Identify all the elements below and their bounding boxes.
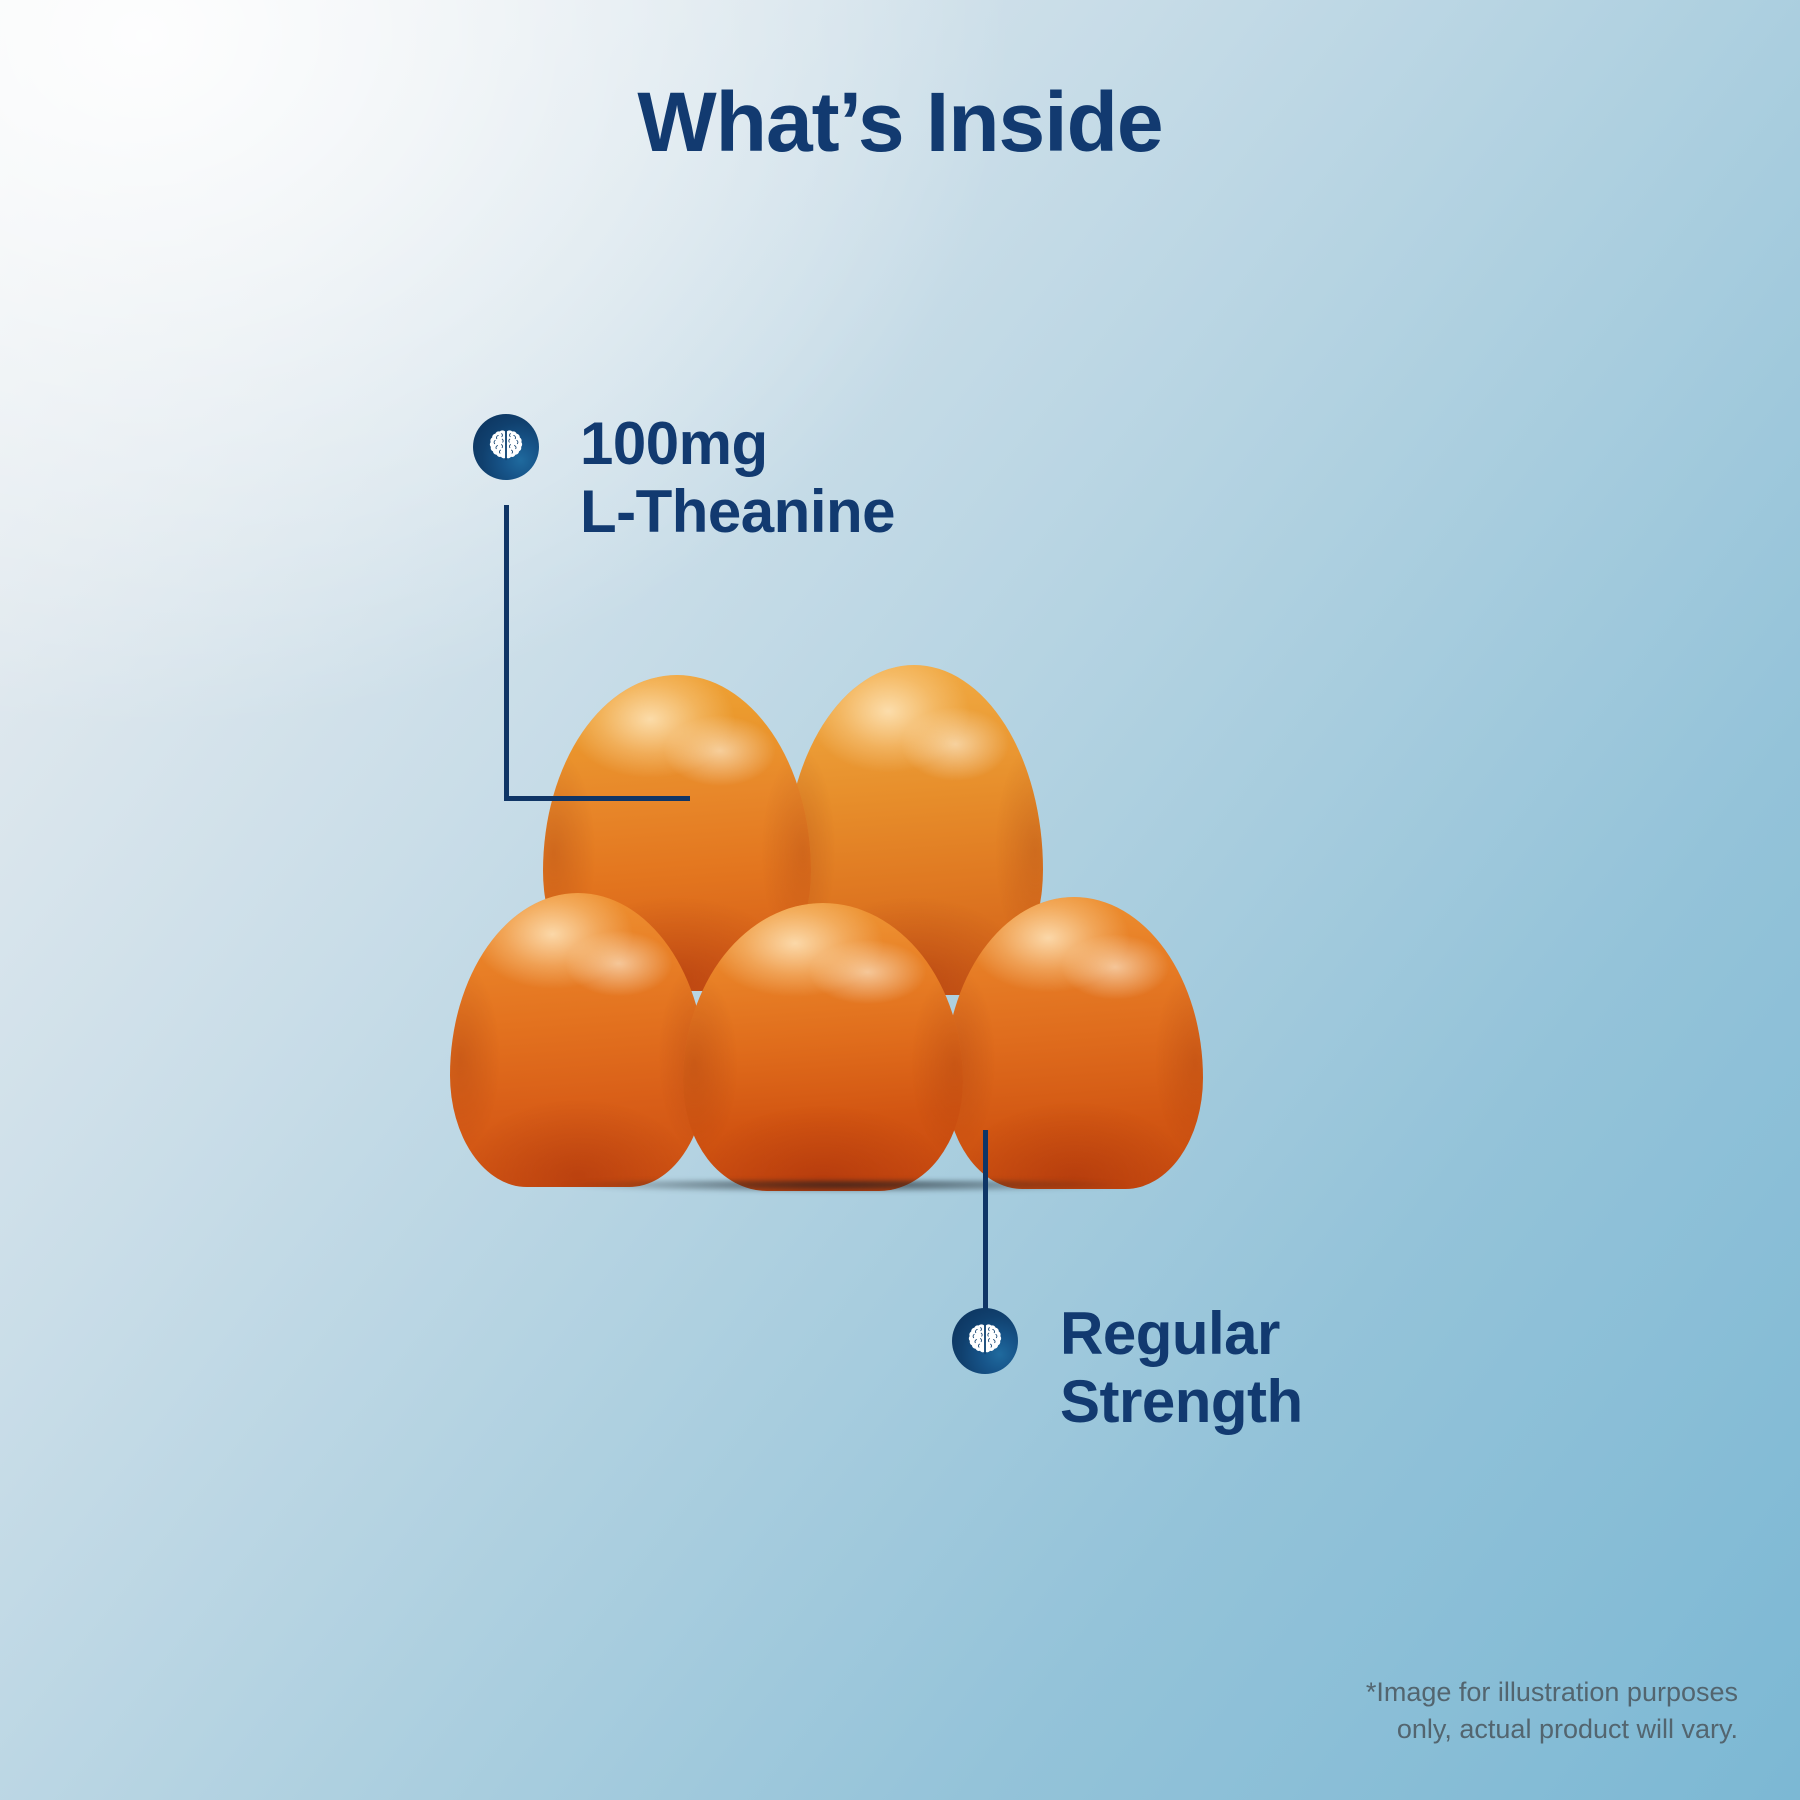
brain-icon [965,1321,1005,1361]
page-title: What’s Inside [0,78,1800,166]
callout-badge-regular-strength[interactable] [952,1308,1018,1374]
disclaimer-text: *Image for illustration purposes only, a… [1366,1674,1738,1749]
product-image [455,675,1345,1235]
contact-shadow [495,1180,1195,1196]
brain-icon [486,427,526,467]
callout-leader-line-horizontal-1 [504,796,690,801]
callout-badge-l-theanine[interactable] [473,414,539,480]
callout-label-regular-strength: Regular Strength [1060,1300,1303,1436]
poster-canvas: What’s Inside [0,0,1800,1800]
callout-label-l-theanine: 100mg L-Theanine [580,410,895,546]
callout-leader-line-vertical-1 [504,505,509,801]
